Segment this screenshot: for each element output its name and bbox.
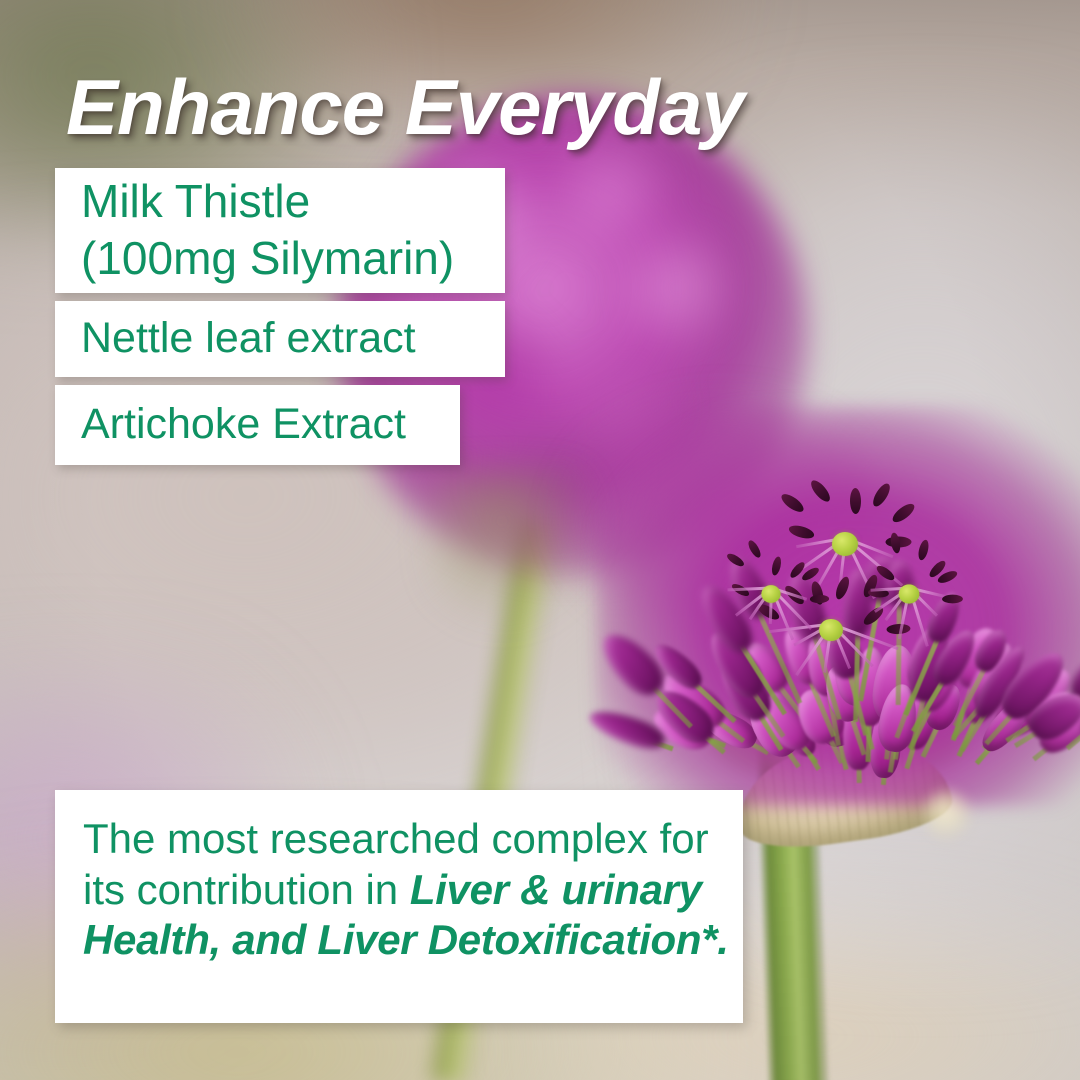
ingredient-chip-artichoke-extract: Artichoke Extract — [55, 385, 460, 465]
product-promo-poster: Enhance Everyday Milk Thistle (100mg Sil… — [0, 0, 1080, 1080]
ingredient-label: Milk Thistle (100mg Silymarin) — [81, 173, 454, 285]
ingredient-chip-nettle-leaf-extract: Nettle leaf extract — [55, 301, 505, 377]
headline: Enhance Everyday — [66, 62, 744, 153]
claim-panel: The most researched complex for its cont… — [55, 790, 743, 1023]
ingredient-label: Nettle leaf extract — [81, 317, 416, 360]
ingredient-chip-milk-thistle: Milk Thistle (100mg Silymarin) — [55, 168, 505, 293]
ingredient-label: Artichoke Extract — [81, 403, 406, 446]
